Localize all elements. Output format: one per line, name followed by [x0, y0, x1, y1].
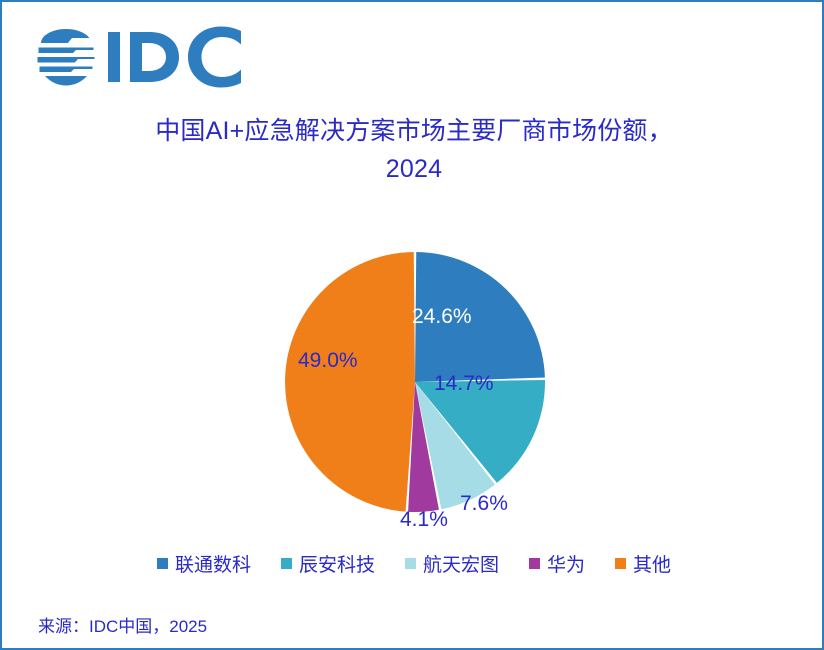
- legend-swatch-icon: [157, 558, 168, 569]
- legend-item-辰安科技[interactable]: 辰安科技: [281, 550, 375, 577]
- legend-item-航天宏图[interactable]: 航天宏图: [405, 550, 499, 577]
- legend-swatch-icon: [281, 558, 292, 569]
- idc-logo: [36, 26, 256, 88]
- slice-label-联通数科: 24.6%: [412, 305, 472, 329]
- legend-swatch-icon: [615, 558, 626, 569]
- legend-item-label: 华为: [547, 550, 585, 577]
- legend-item-联通数科[interactable]: 联通数科: [157, 550, 251, 577]
- legend-item-label: 联通数科: [175, 550, 251, 577]
- slice-label-辰安科技: 14.7%: [434, 372, 494, 396]
- legend-item-label: 辰安科技: [299, 550, 375, 577]
- pie-chart: 24.6% 14.7% 7.6% 4.1% 49.0%: [182, 232, 662, 542]
- pie-slices: [285, 252, 545, 512]
- pie-chart-svg: [182, 232, 662, 542]
- legend-swatch-icon: [405, 558, 416, 569]
- chart-page: 中国AI+应急解决方案市场主要厂商市场份额， 2024 24.6% 14.7% …: [0, 0, 824, 650]
- chart-title-line-2: 2024: [64, 150, 764, 188]
- chart-legend: 联通数科辰安科技航天宏图华为其他: [2, 550, 824, 577]
- chart-title: 中国AI+应急解决方案市场主要厂商市场份额， 2024: [64, 112, 764, 188]
- idc-logo-icon: [36, 26, 256, 88]
- legend-item-label: 其他: [633, 550, 671, 577]
- pie-slice-其他[interactable]: [285, 252, 415, 512]
- legend-item-其他[interactable]: 其他: [615, 550, 671, 577]
- source-note: 来源：IDC中国，2025: [38, 612, 207, 637]
- legend-item-label: 航天宏图: [423, 550, 499, 577]
- chart-title-line-1: 中国AI+应急解决方案市场主要厂商市场份额，: [64, 112, 764, 150]
- slice-label-航天宏图: 7.6%: [460, 492, 508, 516]
- legend-item-华为[interactable]: 华为: [529, 550, 585, 577]
- slice-label-其他: 49.0%: [298, 349, 358, 373]
- legend-swatch-icon: [529, 558, 540, 569]
- slice-label-华为: 4.1%: [400, 508, 448, 532]
